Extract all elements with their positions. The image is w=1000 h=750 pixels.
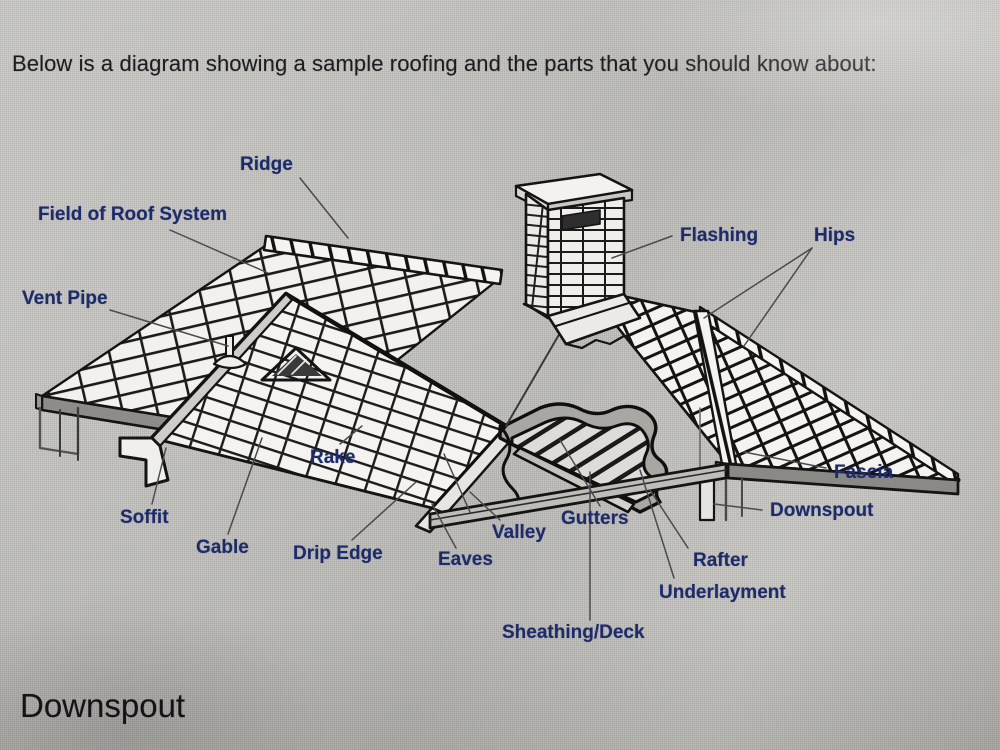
label-ridge: Ridge xyxy=(240,154,293,176)
label-gutters: Gutters xyxy=(561,508,629,530)
label-rake: Rake xyxy=(310,447,355,469)
leader-hips-2 xyxy=(744,248,812,346)
roofing-diagram xyxy=(0,108,1000,668)
label-soffit: Soffit xyxy=(120,507,169,529)
label-downspout: Downspout xyxy=(770,500,873,522)
label-vent-pipe: Vent Pipe xyxy=(22,288,108,310)
leader-ridge xyxy=(300,178,348,238)
label-field-of-roof-system: Field of Roof System xyxy=(38,204,227,226)
label-fascia: Fascia xyxy=(834,462,893,484)
footer-downspout-text: Downspout xyxy=(20,687,185,725)
label-underlayment: Underlayment xyxy=(659,582,786,604)
leader-hips xyxy=(704,248,812,318)
leader-field-of-roof xyxy=(170,230,268,273)
label-drip-edge: Drip Edge xyxy=(293,543,383,565)
gable-eave-return xyxy=(120,438,168,486)
header-instruction-text: Below is a diagram showing a sample roof… xyxy=(12,51,877,77)
screen-photo: Below is a diagram showing a sample roof… xyxy=(0,0,1000,750)
leader-downspout xyxy=(714,504,762,510)
label-gable: Gable xyxy=(196,537,249,559)
label-valley: Valley xyxy=(492,522,546,544)
label-sheathing-deck: Sheathing/Deck xyxy=(502,622,645,644)
label-flashing: Flashing xyxy=(680,225,758,247)
label-hips: Hips xyxy=(814,225,855,247)
label-eaves: Eaves xyxy=(438,549,493,571)
label-rafter: Rafter xyxy=(693,550,748,572)
